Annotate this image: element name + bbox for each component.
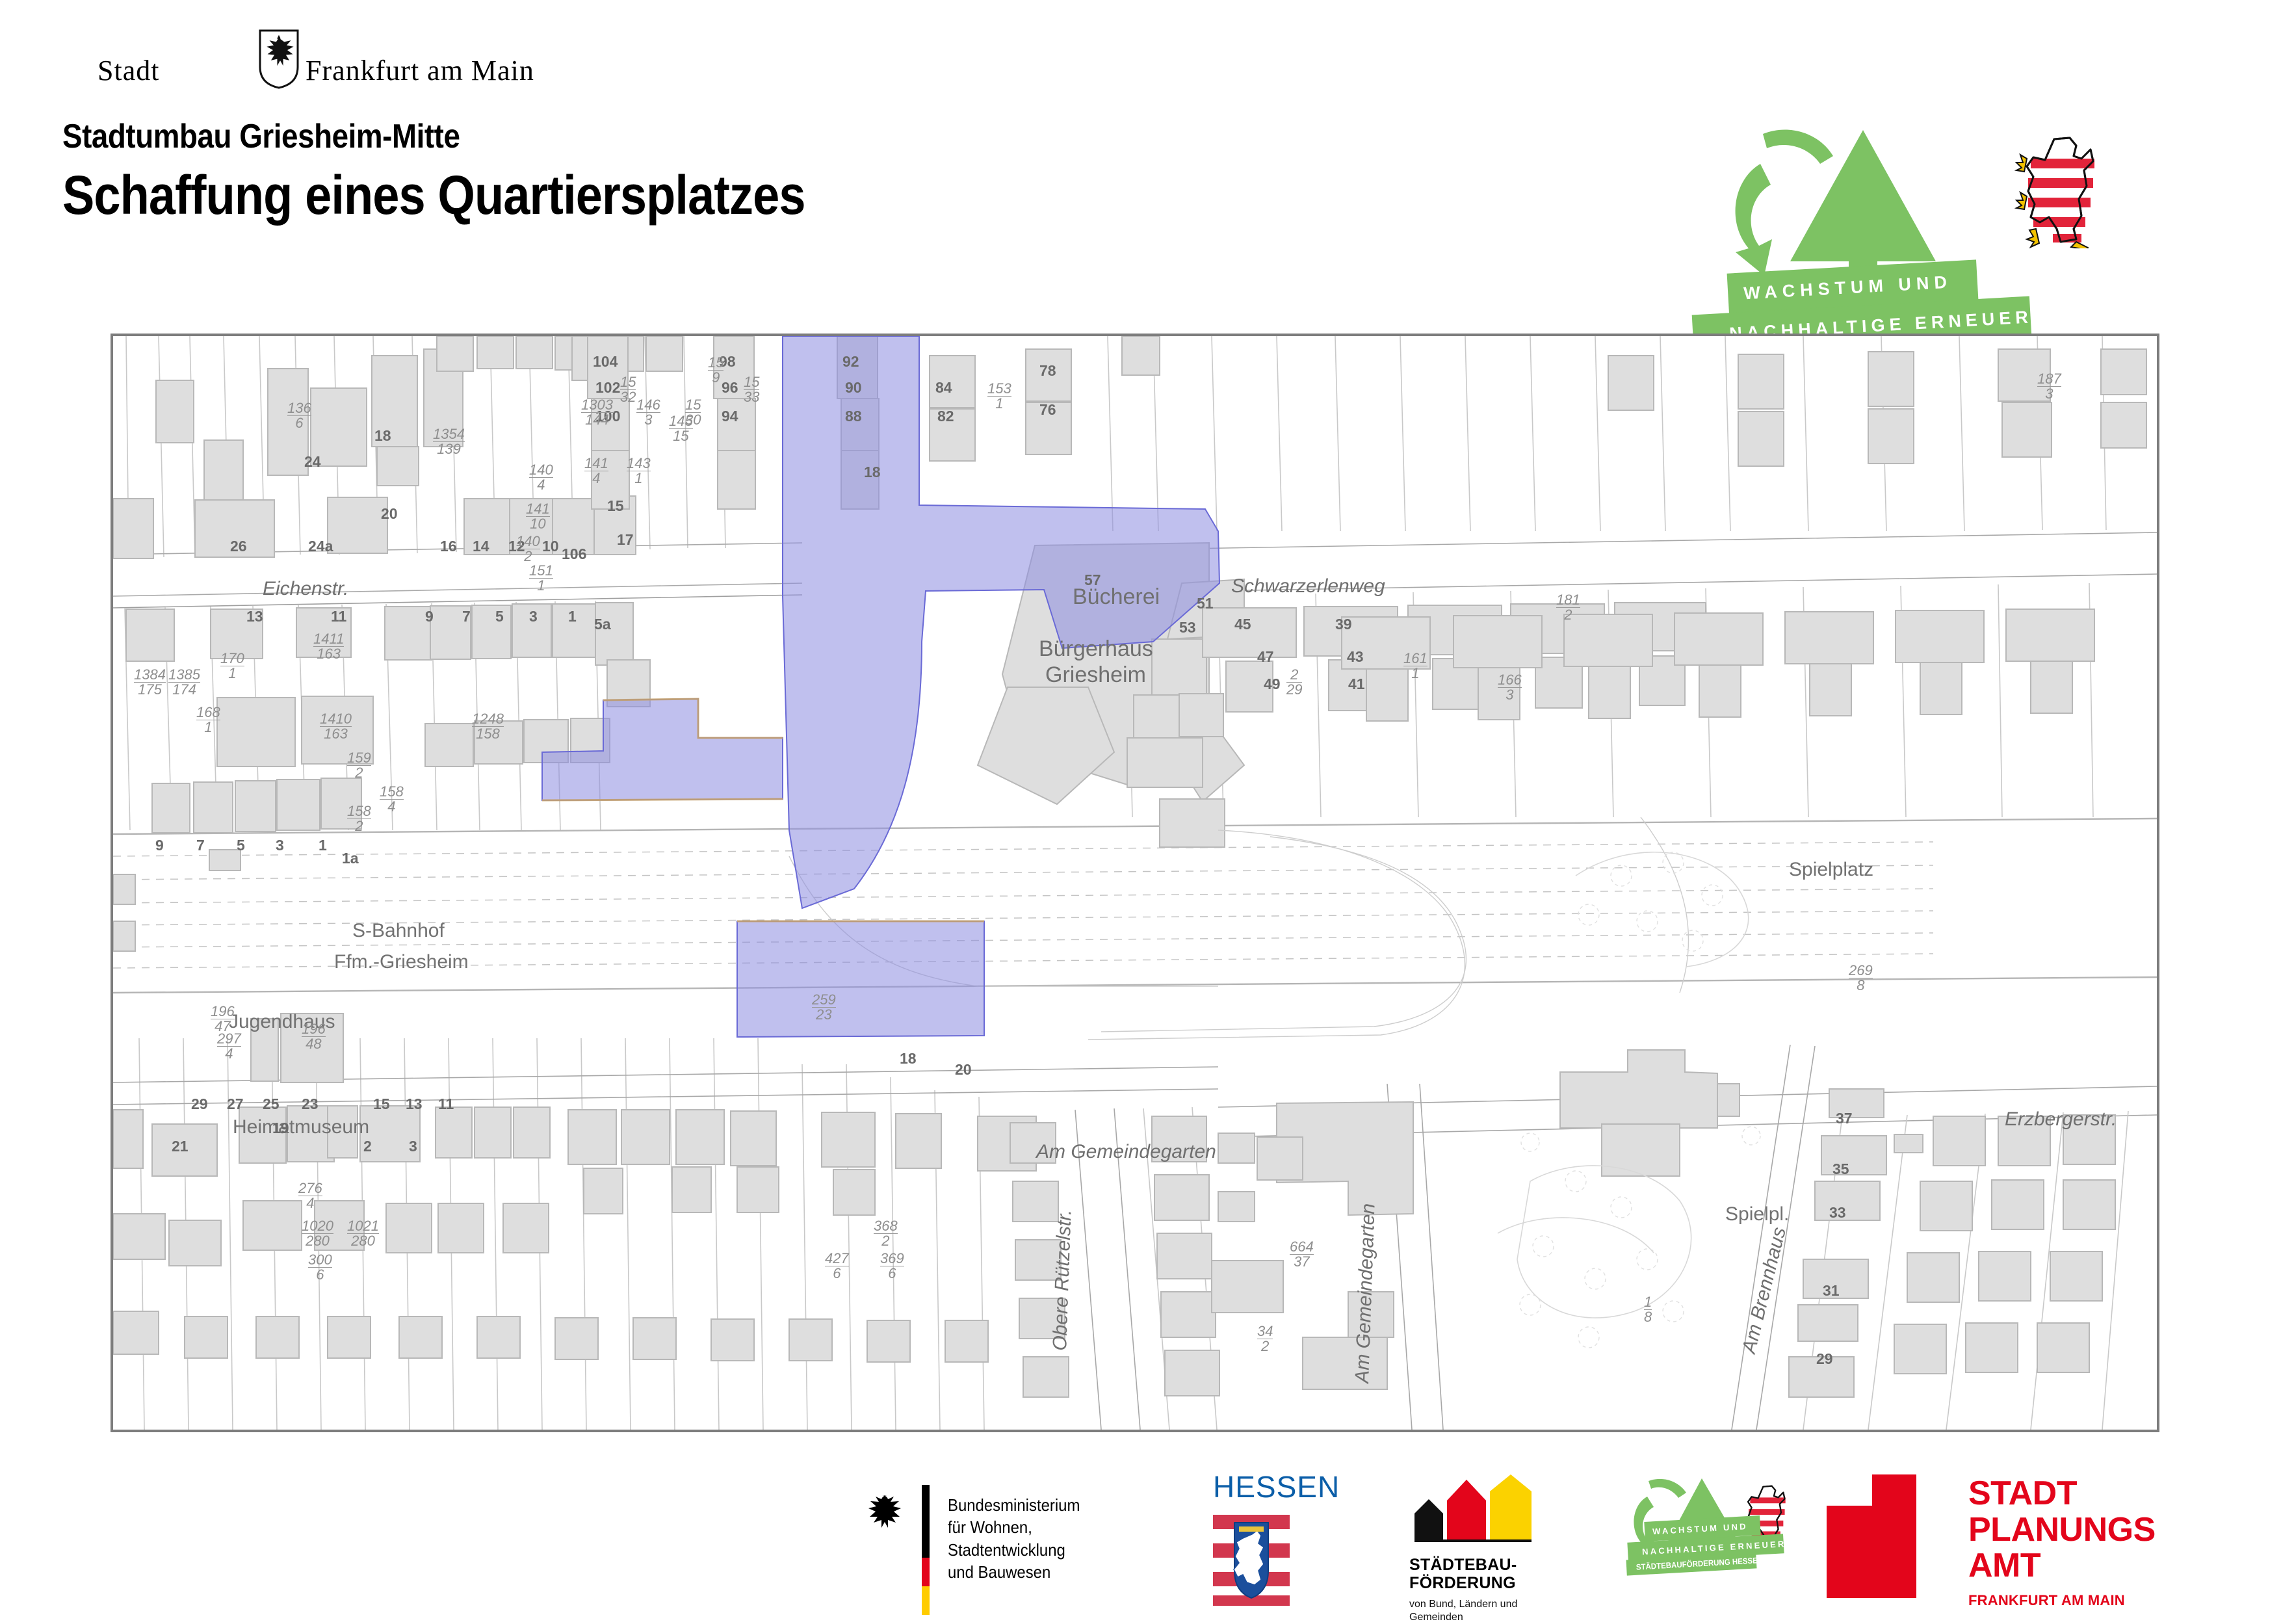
cadastral-map[interactable]: Eichenstr. Schwarzerlenweg Erzbergerstr.…: [111, 334, 2159, 1432]
hessen-wordmark: HESSEN: [1213, 1469, 1340, 1504]
hessen-crest-icon: [1213, 1511, 1290, 1606]
spa-line-2: PLANUNGS: [1968, 1512, 2156, 1549]
page-footer: Bundesministerium für Wohnen, Stadtentwi…: [0, 1456, 2281, 1612]
hessen-logo: HESSEN: [1213, 1469, 1340, 1609]
staedtebau-line-2: FÖRDERUNG: [1409, 1574, 1534, 1592]
hessen-lion-icon: [2014, 131, 2098, 248]
city-of-frankfurt-logo: Stadt Frankfurt am Main: [98, 29, 514, 94]
stadtplanungsamt-mark-icon: [1827, 1474, 1938, 1598]
frankfurt-eagle-crest-icon: [259, 29, 299, 89]
staedtebau-sub-1: von Bund, Ländern und: [1409, 1598, 1534, 1611]
bmwsb-line-2: für Wohnen, Stadtentwicklung: [948, 1516, 1080, 1561]
staedtebaufoerderung-logo: STÄDTEBAU- FÖRDERUNG von Bund, Ländern u…: [1409, 1474, 1534, 1624]
staedtebau-line-1: STÄDTEBAU-: [1409, 1556, 1534, 1574]
bmwsb-line-1: Bundesministerium: [948, 1494, 1080, 1516]
page-header: Stadt Frankfurt am Main Stadtumbau Gries…: [0, 0, 2281, 325]
spa-line-1: STADT: [1968, 1476, 2156, 1512]
three-houses-icon: [1409, 1474, 1534, 1542]
map-canvas[interactable]: Eichenstr. Schwarzerlenweg Erzbergerstr.…: [113, 336, 2157, 1430]
page-title: Schaffung eines Quartiersplatzes: [62, 164, 805, 227]
logo-stadt-text: Stadt: [98, 54, 159, 87]
logo-frankfurt-text: Frankfurt am Main: [306, 54, 534, 87]
bmwsb-line-3: und Bauwesen: [948, 1561, 1080, 1583]
wachstum-logo-footer: WACHSTUM UND NACHHALTIGE ERNEUERUNG STÄD…: [1625, 1473, 1820, 1597]
spa-line-3: AMT: [1968, 1548, 2156, 1584]
staedtebau-sub-2: Gemeinden: [1409, 1611, 1534, 1624]
page-subtitle: Stadtumbau Griesheim-Mitte: [62, 117, 805, 156]
title-block: Stadtumbau Griesheim-Mitte Schaffung ein…: [62, 117, 906, 227]
spa-sub: FRANKFURT AM MAIN: [1968, 1593, 2156, 1608]
bundesadler-icon: [865, 1490, 910, 1542]
